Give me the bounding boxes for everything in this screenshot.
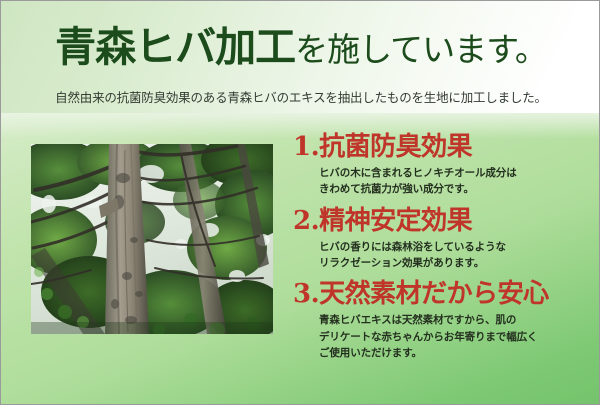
feature-number-3: 3. [293,279,319,309]
feature-heading-3: 3.天然素材だから安心 [293,280,593,309]
feature-desc-line: 青森ヒバエキスは天然素材ですから、肌の [319,312,593,328]
forest-photo-image [31,144,273,334]
feature-desc-line: きわめて抗菌力が強い成分です。 [319,181,593,197]
feature-title-3: 天然素材だから安心 [319,279,549,309]
feature-desc-line: リラクゼーション効果があります。 [319,255,593,271]
feature-list: 1.抗菌防臭効果 ヒバの木に含まれるヒノキチオール成分は きわめて抗菌力が強い成… [293,133,593,370]
feature-title-1: 抗菌防臭効果 [319,132,472,162]
feature-number-2: 2. [293,206,319,236]
feature-desc-line: デリケートな赤ちゃんからお年寄りまで幅広く [319,329,593,345]
feature-description-1: ヒバの木に含まれるヒノキチオール成分は きわめて抗菌力が強い成分です。 [319,165,593,198]
feature-desc-line: ご使用いただけます。 [319,345,593,361]
feature-heading-2: 2.精神安定効果 [293,207,593,236]
forest-photo [31,144,273,334]
feature-description-2: ヒバの香りには森林浴をしているような リラクゼーション効果があります。 [319,239,593,272]
feature-item-1: 1.抗菌防臭効果 ヒバの木に含まれるヒノキチオール成分は きわめて抗菌力が強い成… [293,133,593,198]
banner-header: 青森ヒバ加工を施しています。 自然由来の抗菌防臭効果のある青森ヒバのエキスを抽出… [1,1,600,119]
page-subtitle: 自然由来の抗菌防臭効果のある青森ヒバのエキスを抽出したものを生地に加工しました。 [1,87,600,106]
feature-item-2: 2.精神安定効果 ヒバの香りには森林浴をしているような リラクゼーション効果があ… [293,207,593,272]
feature-title-2: 精神安定効果 [319,206,472,236]
feature-item-3: 3.天然素材だから安心 青森ヒバエキスは天然素材ですから、肌の デリケートな赤ち… [293,280,593,361]
feature-heading-1: 1.抗菌防臭効果 [293,133,593,162]
hiba-promo-banner: 青森ヒバ加工を施しています。 自然由来の抗菌防臭効果のある青森ヒバのエキスを抽出… [0,0,600,405]
feature-description-3: 青森ヒバエキスは天然素材ですから、肌の デリケートな赤ちゃんからお年寄りまで幅広… [319,312,593,361]
page-title: 青森ヒバ加工を施しています。 [1,27,600,68]
feature-number-1: 1. [293,132,319,162]
page-title-strong: 青森ヒバ加工 [55,23,295,71]
feature-desc-line: ヒバの香りには森林浴をしているような [319,239,593,255]
feature-desc-line: ヒバの木に含まれるヒノキチオール成分は [319,165,593,181]
page-title-light: を施しています。 [295,30,547,69]
